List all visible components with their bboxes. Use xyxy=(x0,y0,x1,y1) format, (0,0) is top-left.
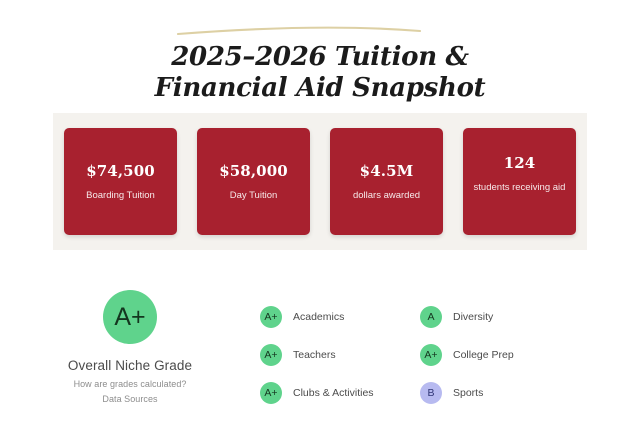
page-title: 2025–2026 Tuition & Financial Aid Snapsh… xyxy=(0,42,640,104)
grade-badge-icon: A+ xyxy=(260,382,282,404)
page-title-line-1: 2025–2026 Tuition & xyxy=(0,42,640,73)
grade-badge-icon: A+ xyxy=(420,344,442,366)
grade-badge-icon: A xyxy=(420,306,442,328)
grade-row-label: Academics xyxy=(293,311,344,323)
overall-grade-label: Overall Niche Grade xyxy=(68,358,192,373)
stats-panel: $74,500 Boarding Tuition $58,000 Day Tui… xyxy=(53,113,587,250)
grades-section: A+ Overall Niche Grade How are grades ca… xyxy=(0,290,640,420)
grade-badge-icon: B xyxy=(420,382,442,404)
grade-row-clubs-activities[interactable]: A+ Clubs & Activities xyxy=(260,374,420,412)
grade-column-left: A+ Academics A+ Teachers A+ Clubs & Acti… xyxy=(260,298,420,420)
grade-row-diversity[interactable]: A Diversity xyxy=(420,298,580,336)
stat-label: students receiving aid xyxy=(474,181,566,194)
grade-row-label: Diversity xyxy=(453,311,493,323)
grade-row-sports[interactable]: B Sports xyxy=(420,374,580,412)
grade-row-label: Sports xyxy=(453,387,483,399)
grade-badge-icon: A+ xyxy=(260,306,282,328)
stat-value: $74,500 xyxy=(86,162,155,180)
stat-label: Boarding Tuition xyxy=(86,189,155,202)
grade-badge-icon: A+ xyxy=(260,344,282,366)
grade-columns: A+ Academics A+ Teachers A+ Clubs & Acti… xyxy=(260,290,640,420)
stat-value: $58,000 xyxy=(219,162,288,180)
grade-row-college-prep[interactable]: A+ College Prep xyxy=(420,336,580,374)
overall-niche-grade-block: A+ Overall Niche Grade How are grades ca… xyxy=(0,290,260,420)
grade-row-label: Clubs & Activities xyxy=(293,387,374,399)
stat-value: 124 xyxy=(504,154,536,172)
how-are-grades-calculated-link[interactable]: How are grades calculated? xyxy=(74,379,187,389)
stat-card-day-tuition: $58,000 Day Tuition xyxy=(197,128,310,235)
grade-row-label: College Prep xyxy=(453,349,514,361)
stat-card-boarding-tuition: $74,500 Boarding Tuition xyxy=(64,128,177,235)
grade-column-right: A Diversity A+ College Prep B Sports xyxy=(420,298,580,420)
grade-row-teachers[interactable]: A+ Teachers xyxy=(260,336,420,374)
decorative-arc xyxy=(0,22,640,38)
overall-grade-badge: A+ xyxy=(103,290,157,344)
data-sources-link[interactable]: Data Sources xyxy=(102,394,157,404)
stat-value: $4.5M xyxy=(360,162,414,180)
grade-row-academics[interactable]: A+ Academics xyxy=(260,298,420,336)
stat-card-dollars-awarded: $4.5M dollars awarded xyxy=(330,128,443,235)
grade-row-label: Teachers xyxy=(293,349,336,361)
stat-label: Day Tuition xyxy=(230,189,278,202)
stat-label: dollars awarded xyxy=(353,189,420,202)
page-title-line-2: Financial Aid Snapshot xyxy=(0,73,640,104)
stat-card-students-receiving-aid: 124 students receiving aid xyxy=(463,128,576,235)
